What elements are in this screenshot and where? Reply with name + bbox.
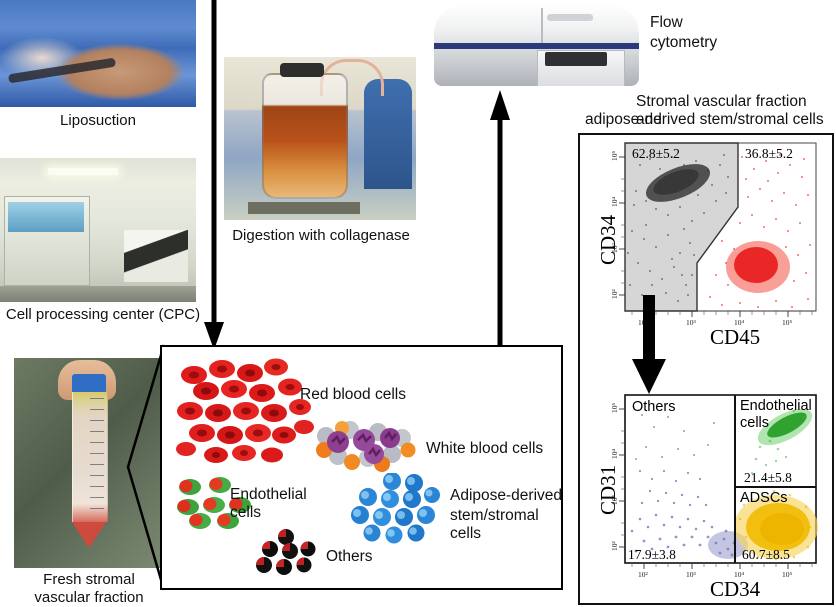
adsc-cells-cluster bbox=[348, 473, 444, 545]
axis-label-cd45-x: CD45 bbox=[710, 325, 760, 350]
cytometer-seam-shape bbox=[541, 8, 543, 44]
digestion-jar-shape bbox=[262, 73, 348, 199]
axis-label-cd34-x: CD34 bbox=[710, 577, 760, 602]
label-red-blood-cells: Red blood cells bbox=[300, 386, 406, 404]
quadrant-value-adscs: 60.7±8.5 bbox=[742, 547, 790, 563]
label-others: Others bbox=[326, 548, 373, 566]
white-blood-cells-cluster bbox=[312, 420, 418, 478]
label-adsc-line1: Adipose-derived bbox=[450, 487, 562, 505]
arrow-up-to-flow-cytometer bbox=[488, 88, 512, 346]
tube-tip-shape bbox=[72, 522, 106, 548]
label-flow-cytometry-line2: cytometry bbox=[650, 34, 717, 52]
tube-graduations bbox=[90, 398, 104, 518]
gate-value-cd45-positive: 36.8±5.2 bbox=[745, 146, 793, 162]
caption-liposuction: Liposuction bbox=[0, 112, 196, 129]
caption-collagenase-digestion: Digestion with collagenase bbox=[216, 227, 426, 244]
quadrant-label-endothelial-line2: cells bbox=[740, 415, 769, 431]
ceiling-lamp-shape bbox=[48, 168, 118, 175]
photo-flow-cytometer bbox=[434, 4, 639, 86]
quadrant-label-others: Others bbox=[632, 399, 676, 415]
jar-lid-shape bbox=[280, 63, 324, 77]
xtick-5: 10⁵ bbox=[782, 318, 792, 327]
xtick2-5: 10⁵ bbox=[782, 570, 792, 579]
photo-liposuction bbox=[0, 0, 196, 107]
flow-cytometry-results-panel: CD34 10⁵ 10⁴ 10³ 10² bbox=[578, 133, 834, 605]
quadrant-value-others: 17.9±3.8 bbox=[628, 547, 676, 563]
cell-composition-panel: Red blood cells White blood cells bbox=[160, 345, 563, 590]
microscope-shape bbox=[124, 230, 188, 282]
label-white-blood-cells: White blood cells bbox=[426, 440, 543, 458]
photo-collagenase-digestion bbox=[224, 57, 416, 220]
plot-cd31-cd34: CD31 10⁵ 10⁴ 10³ 10² bbox=[580, 387, 832, 602]
quadrant-label-endothelial-line1: Endothelial bbox=[740, 398, 812, 414]
cytometer-tray-block-shape bbox=[545, 52, 607, 66]
label-flow-cytometry-line1: Flow bbox=[650, 14, 683, 32]
quadrant-value-endothelial: 21.4±5.8 bbox=[744, 470, 792, 486]
arrow-down-between-plots bbox=[630, 295, 668, 395]
quadrant-label-adscs: ADSCs bbox=[740, 490, 788, 506]
label-endothelial-cells-line2: cells bbox=[230, 504, 261, 522]
xtick2-2: 10² bbox=[638, 570, 648, 579]
arrow-down-to-cell-panel bbox=[202, 0, 226, 352]
photo-cell-processing-center bbox=[0, 158, 196, 302]
caption-cell-processing-center: Cell processing center (CPC) bbox=[0, 306, 206, 323]
others-cells-cluster bbox=[254, 529, 324, 581]
fc-heading-line2: adipose-derived stem/stromal cells bbox=[585, 111, 824, 129]
xtick-3: 10³ bbox=[686, 318, 696, 327]
stirrer-base-shape bbox=[248, 202, 360, 214]
tube-cap-shape bbox=[72, 374, 106, 394]
gate-value-cd34-positive: 62.8±5.2 bbox=[632, 146, 680, 162]
label-endothelial-cells-line1: Endothelial bbox=[230, 486, 307, 504]
xtick2-3: 10³ bbox=[686, 570, 696, 579]
bench-shape bbox=[0, 286, 196, 302]
red-blood-cells-cluster bbox=[172, 357, 322, 475]
cytometer-slot-shape bbox=[547, 14, 593, 21]
label-adsc-line2: stem/stromal cells bbox=[450, 507, 563, 543]
cytometer-stripe-shape bbox=[434, 43, 639, 49]
hood-glass-shape bbox=[8, 202, 84, 232]
plot-cd34-cd45: CD34 10⁵ 10⁴ 10³ 10² bbox=[580, 135, 832, 350]
